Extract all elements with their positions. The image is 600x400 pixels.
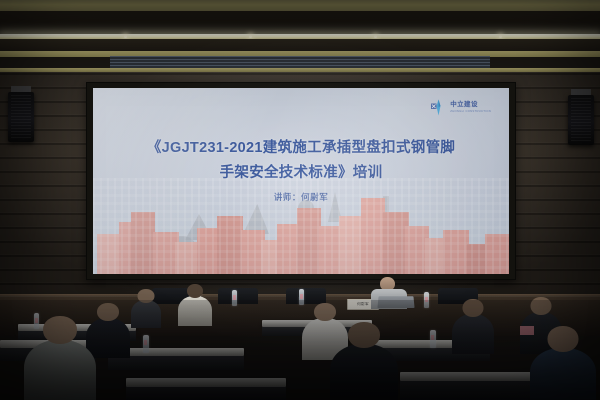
audience-person-head xyxy=(138,289,155,303)
audience-person xyxy=(530,348,596,400)
podium-chair xyxy=(218,288,258,304)
audience-person xyxy=(452,314,494,354)
audience-desk xyxy=(126,378,286,387)
water-bottle xyxy=(232,290,237,306)
audience-person xyxy=(178,296,212,326)
audience-person-head xyxy=(548,326,579,352)
audience-person-head xyxy=(463,299,484,317)
audience-desk-front xyxy=(400,381,550,400)
audience-person-head xyxy=(97,303,119,321)
podium-chair xyxy=(286,288,326,304)
audience-person xyxy=(24,340,96,400)
water-bottle xyxy=(430,330,436,348)
projection-screen-frame: 中立建设 ZHONGLI CONSTRUCTION 《JGJT231-2021建… xyxy=(86,82,516,280)
instructor-laptop xyxy=(377,296,414,308)
wall-speaker-left-icon xyxy=(8,92,34,142)
audience-desk-front xyxy=(108,356,244,370)
microphone-icon xyxy=(297,288,299,297)
ceiling-spot-light xyxy=(499,35,502,38)
audience-person xyxy=(330,344,398,400)
audience-person-head xyxy=(43,316,77,344)
audience-person-head xyxy=(187,284,203,298)
wall-speaker-right-icon xyxy=(568,95,594,145)
speaker-bracket xyxy=(11,86,31,92)
water-bottle xyxy=(299,289,304,305)
water-bottle xyxy=(34,313,39,329)
water-bottle xyxy=(143,335,149,353)
audience-person-head xyxy=(348,322,380,348)
water-bottle xyxy=(424,292,429,308)
speaker-mesh xyxy=(571,98,591,142)
audience-desk-front xyxy=(126,387,286,400)
audience-person xyxy=(131,300,161,328)
audience-person-head xyxy=(531,297,552,315)
ceiling-spot-light xyxy=(249,35,252,38)
pink-paper-sheet xyxy=(520,326,534,335)
ceiling-dark-panel-upper xyxy=(0,11,600,35)
audience-desk xyxy=(400,372,550,381)
speaker-bracket xyxy=(571,89,591,95)
photo-screenshot: 中立建设 ZHONGLI CONSTRUCTION 《JGJT231-2021建… xyxy=(0,0,600,400)
ceiling-spot-light xyxy=(374,35,377,38)
audience-person-head xyxy=(314,303,336,321)
speaker-mesh xyxy=(11,95,31,139)
screen-sheen xyxy=(93,88,509,274)
projection-screen-surface: 中立建设 ZHONGLI CONSTRUCTION 《JGJT231-2021建… xyxy=(93,88,509,274)
ceiling-spot-light xyxy=(124,35,127,38)
audience-person xyxy=(86,318,130,358)
